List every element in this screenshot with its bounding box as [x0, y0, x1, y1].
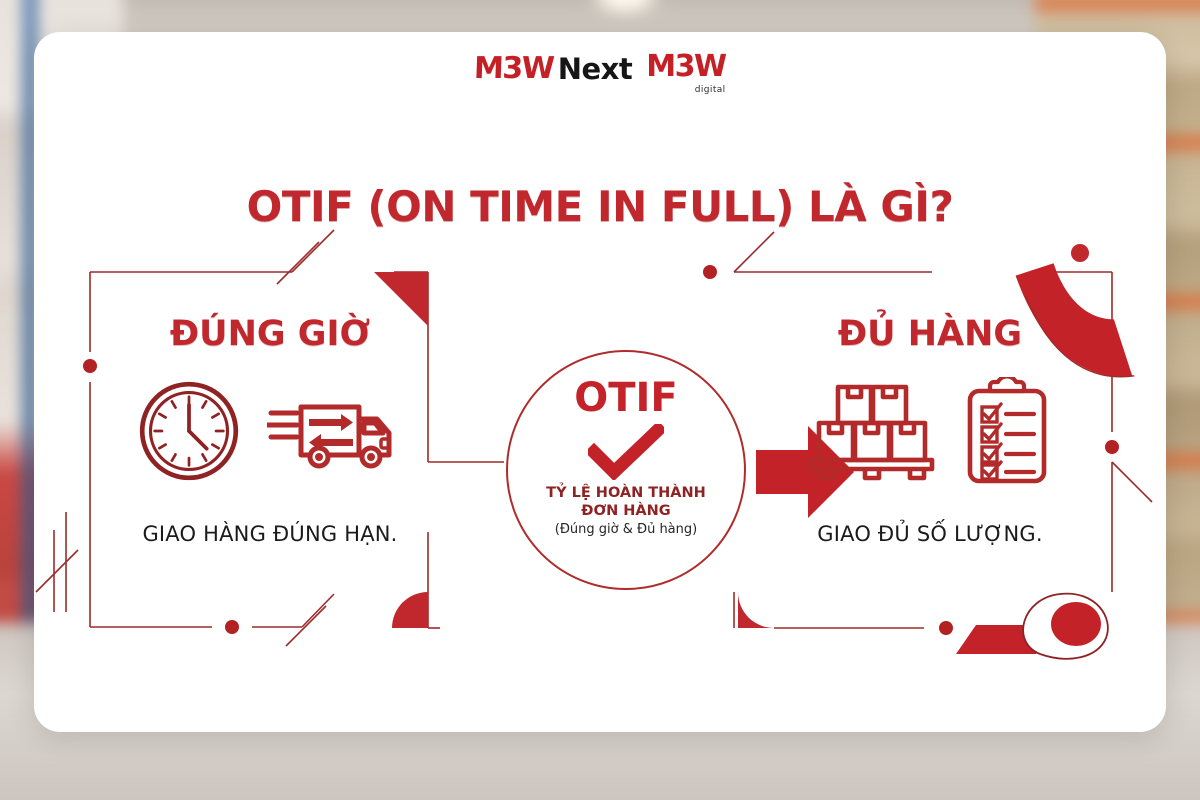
clipboard-checklist-icon: [962, 377, 1052, 485]
logo-m3w-digital-mark: M3W: [646, 49, 725, 84]
otif-label: OTIF: [574, 378, 678, 418]
circuit-frame-left-top-diag: [292, 230, 334, 272]
column-on-time: ĐÚNG GIỜ: [90, 314, 450, 546]
corner-triangle-bottom-right-inner: [738, 592, 774, 628]
screenshot-stage: M3W Next M3W digital OTIF (ON TIME IN FU…: [0, 0, 1200, 800]
right-caption: GIAO ĐỦ SỐ LƯỢNG.: [750, 522, 1110, 546]
logo-next-text: Next: [558, 55, 633, 84]
right-icon-row: [750, 376, 1110, 486]
circuit-frame-right-top-diag: [734, 232, 774, 272]
circuit-frame-left-top-diag2: [277, 242, 319, 284]
checkmark-icon: [588, 424, 664, 480]
otif-note: (Đúng giờ & Đủ hàng): [555, 522, 697, 537]
logo-m3w-digital: M3W digital: [646, 52, 725, 84]
ribbon-roll-bottom-right: [956, 594, 1108, 659]
logo-m3w-mark: M3W: [474, 54, 554, 84]
right-heading: ĐỦ HÀNG: [750, 314, 1110, 354]
left-heading: ĐÚNG GIỜ: [90, 314, 450, 354]
otif-subtitle-line2: ĐƠN HÀNG: [581, 502, 670, 520]
boxes-on-pallet-icon: [808, 379, 936, 483]
left-icon-row: [90, 376, 450, 486]
dot-node-right-3: [939, 621, 953, 635]
clock-icon: [137, 379, 241, 483]
otif-center-circle: OTIF TỶ LỆ HOÀN THÀNH ĐƠN HÀNG (Đúng giờ…: [506, 350, 746, 590]
circuit-frame-left-diag: [302, 594, 334, 627]
logo-m3w-next: M3W Next: [474, 54, 632, 84]
delivery-truck-icon: [267, 381, 403, 481]
dot-node-swoosh: [1071, 244, 1089, 262]
checklist-rows: [982, 404, 1034, 479]
background-top-strip: [123, 0, 1035, 27]
page-title: OTIF (ON TIME IN FULL) LÀ GÌ?: [34, 182, 1166, 231]
logo-row: M3W Next M3W digital: [34, 52, 1166, 84]
left-caption: GIAO HÀNG ĐÚNG HẠN.: [90, 522, 450, 546]
logo-digital-text: digital: [695, 85, 726, 95]
circuit-frame-left-diag2: [286, 606, 326, 646]
dot-node-left-2: [225, 620, 239, 634]
corner-triangle-bottom-left: [392, 592, 428, 628]
infographic-card: M3W Next M3W digital OTIF (ON TIME IN FU…: [34, 32, 1166, 732]
column-in-full: ĐỦ HÀNG: [750, 314, 1110, 546]
circuit-diag-far-left: [36, 550, 78, 592]
dot-node-right-1: [703, 265, 717, 279]
otif-subtitle-line1: TỶ LỆ HOÀN THÀNH: [546, 484, 706, 502]
circuit-frame-right-diag: [1112, 462, 1152, 502]
